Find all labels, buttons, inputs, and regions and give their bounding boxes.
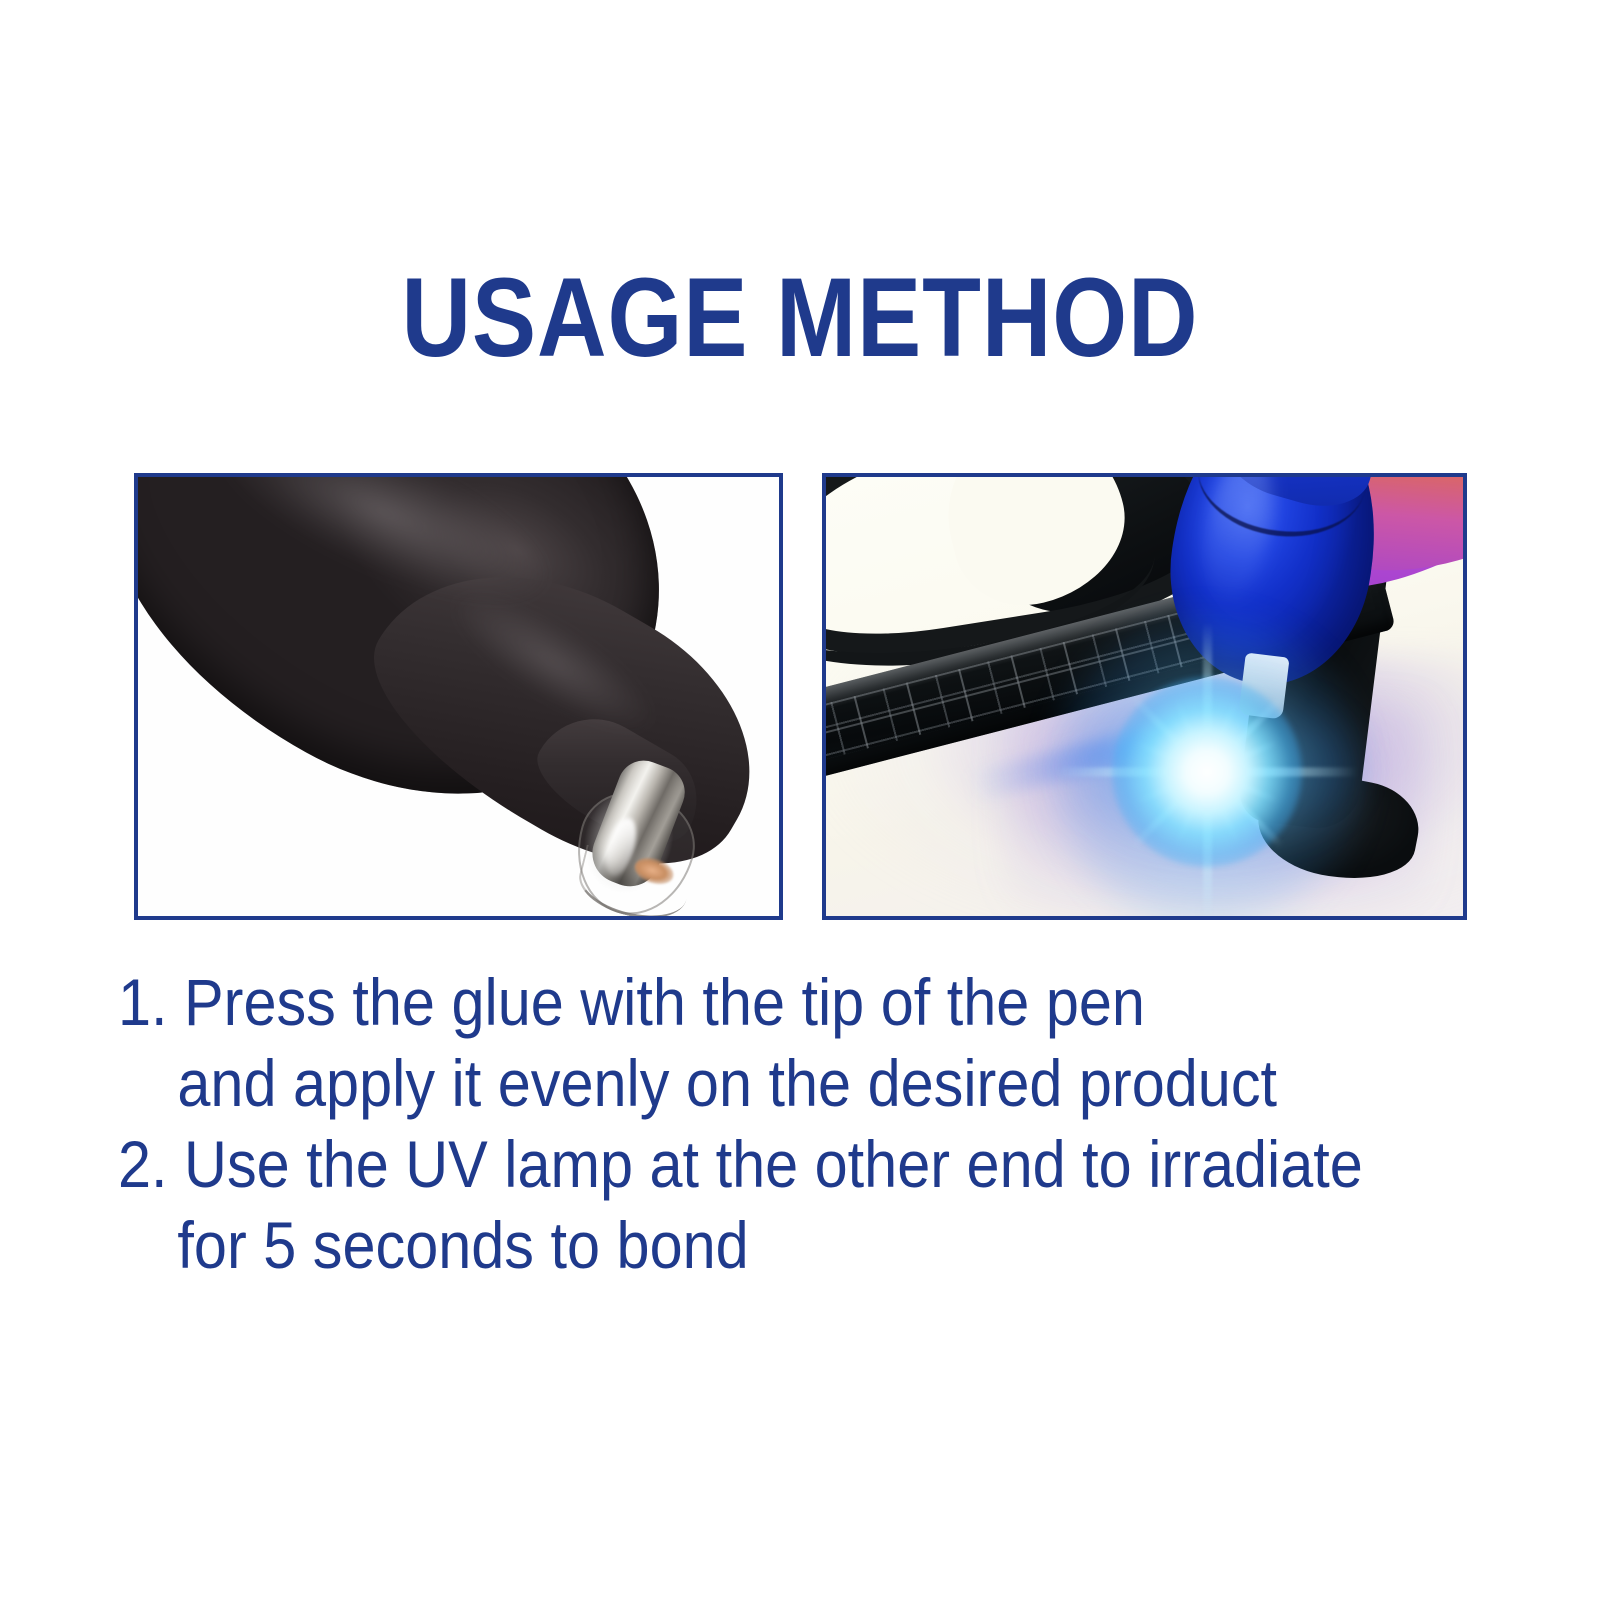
uv-cure-photo: [826, 477, 1463, 916]
page-title: USAGE METHOD: [112, 262, 1488, 374]
uv-cure-photo-panel: [822, 473, 1467, 920]
instruction-step-2-line-1: 2. Use the UV lamp at the other end to i…: [118, 1124, 1396, 1205]
instruction-step-1-line-2: and apply it evenly on the desired produ…: [118, 1043, 1396, 1124]
uv-light-burst-core: [1112, 677, 1302, 867]
apply-glue-photo-panel: [134, 473, 783, 920]
apply-glue-photo: [138, 477, 779, 916]
instruction-step-2-line-2: for 5 seconds to bond: [118, 1205, 1396, 1286]
instructions-list: 1. Press the glue with the tip of the pe…: [118, 962, 1538, 1286]
instruction-step-1-line-1: 1. Press the glue with the tip of the pe…: [118, 962, 1396, 1043]
